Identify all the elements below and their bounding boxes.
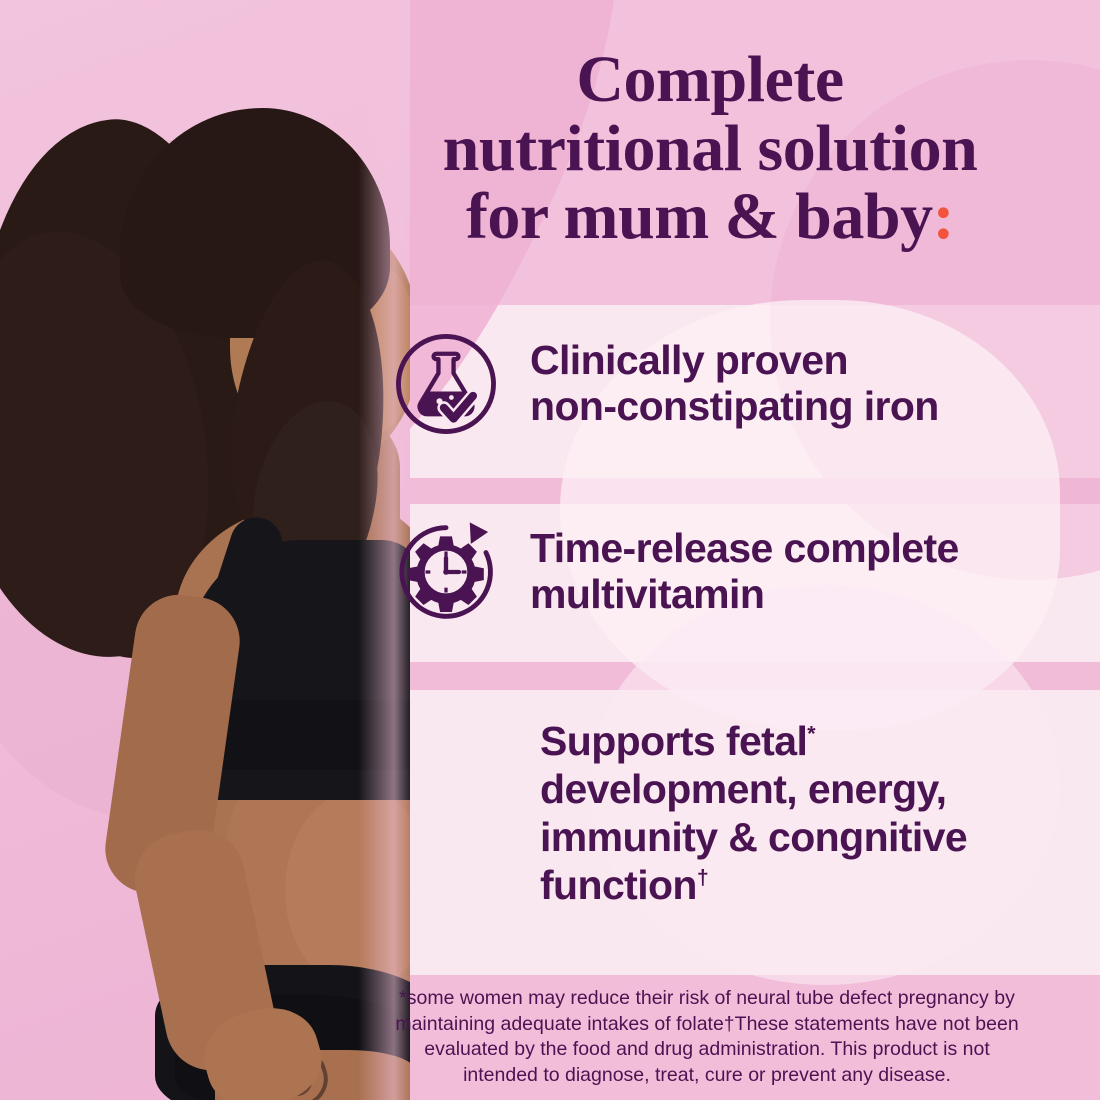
feature-1-line-2: non-constipating iron xyxy=(530,384,939,430)
footnote-line-2: maintaining adequate intakes of folate†T… xyxy=(348,1012,1066,1038)
feature-3-line-4: function† xyxy=(540,862,967,910)
feature-3-line-4-text: function xyxy=(540,862,697,908)
headline-line-2: nutritional solution xyxy=(350,115,1070,184)
promo-banner: Complete nutritional solution for mum & … xyxy=(0,0,1100,1100)
gear-clock-icon xyxy=(392,518,500,626)
feature-3-line-1-text: Supports fetal xyxy=(540,718,807,764)
feature-3-dagger: † xyxy=(697,865,708,889)
feature-1-line-1: Clinically proven xyxy=(530,338,939,384)
feature-2-text: Time-release complete multivitamin xyxy=(530,526,959,618)
headline-line-3-text: for mum & baby xyxy=(466,180,933,253)
feature-2-line-2: multivitamin xyxy=(530,572,959,618)
feature-row-2: Time-release complete multivitamin xyxy=(392,518,959,626)
feature-3-line-3: immunity & congnitive xyxy=(540,814,967,862)
headline-line-3: for mum & baby: xyxy=(350,183,1070,252)
headline-line-1: Complete xyxy=(350,46,1070,115)
feature-row-1: Clinically proven non-constipating iron xyxy=(392,330,939,438)
footnote-line-3: evaluated by the food and drug administr… xyxy=(348,1037,1066,1063)
feature-1-text: Clinically proven non-constipating iron xyxy=(530,338,939,430)
headline: Complete nutritional solution for mum & … xyxy=(350,46,1070,252)
feature-3-asterisk: * xyxy=(807,721,815,745)
feature-2-line-1: Time-release complete xyxy=(530,526,959,572)
feature-3-line-2: development, energy, xyxy=(540,766,967,814)
headline-colon: : xyxy=(933,180,954,253)
feature-3-line-1: Supports fetal* xyxy=(540,718,967,766)
footnote-line-1: *some women may reduce their risk of neu… xyxy=(348,986,1066,1012)
pregnant-woman-photo xyxy=(0,0,410,1100)
flask-check-icon xyxy=(392,330,500,438)
feature-3-text: Supports fetal* development, energy, imm… xyxy=(540,718,967,910)
footnote-disclaimer: *some women may reduce their risk of neu… xyxy=(348,986,1066,1089)
footnote-line-4: intended to diagnose, treat, cure or pre… xyxy=(348,1063,1066,1089)
feature-row-3: Supports fetal* development, energy, imm… xyxy=(540,718,1080,910)
